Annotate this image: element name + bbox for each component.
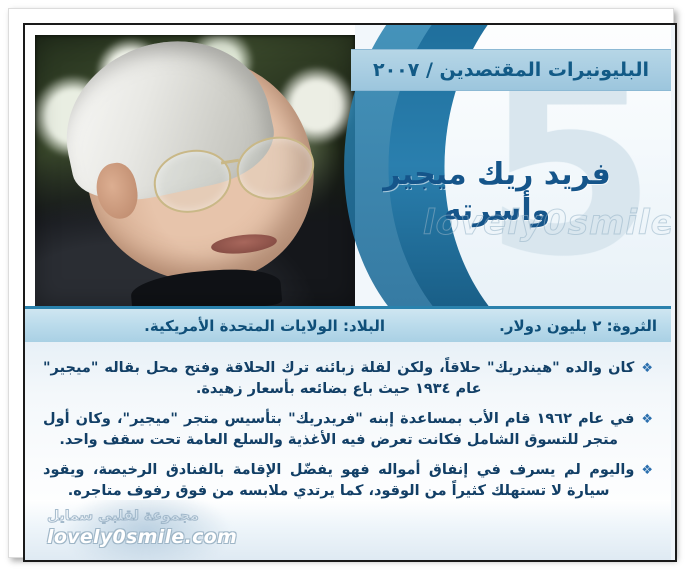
- infographic-page: 5 البليونيرات المقتصدين / ٢٠٠٧ فريد ريك …: [0, 0, 692, 579]
- header-bar: البليونيرات المقتصدين / ٢٠٠٧: [351, 49, 671, 91]
- subject-title-block: فريد ريك ميجير وأسرته: [347, 157, 647, 229]
- diamond-bullet-icon: ❖: [641, 359, 653, 379]
- outer-frame: 5 البليونيرات المقتصدين / ٢٠٠٧ فريد ريك …: [8, 8, 674, 558]
- wealth-value: الثروة: ٢ بليون دولار.: [499, 317, 657, 335]
- diamond-bullet-icon: ❖: [641, 461, 653, 481]
- inner-frame: 5 البليونيرات المقتصدين / ٢٠٠٧ فريد ريك …: [23, 23, 677, 562]
- diamond-bullet-icon: ❖: [641, 410, 653, 430]
- footer-arabic-credit: مجموعة لقلبي سمايل: [47, 508, 199, 524]
- header-title: البليونيرات المقتصدين / ٢٠٠٧: [373, 59, 649, 81]
- list-item: ❖ كان والده "هيندريك" حلاقاً، ولكن لقلة …: [43, 358, 653, 400]
- body-bullets: ❖ كان والده "هيندريك" حلاقاً، ولكن لقلة …: [25, 342, 671, 522]
- info-bar: الثروة: ٢ بليون دولار. البلاد: الولايات …: [25, 306, 671, 342]
- top-zone: 5 البليونيرات المقتصدين / ٢٠٠٧ فريد ريك …: [25, 25, 671, 306]
- list-item: ❖ واليوم لم يسرف في إنفاق أمواله فهو يفض…: [43, 460, 653, 502]
- list-item: ❖ في عام ١٩٦٢ قام الأب بمساعدة إبنه "فري…: [43, 409, 653, 451]
- footer-site-url: lovely0smile.com: [47, 526, 237, 548]
- bullet-text-3: واليوم لم يسرف في إنفاق أمواله فهو يفضّل…: [43, 460, 634, 502]
- subject-title-line-1: فريد ريك ميجير: [347, 157, 647, 193]
- country-value: البلاد: الولايات المتحدة الأمريكية.: [144, 317, 385, 335]
- bullet-text-2: في عام ١٩٦٢ قام الأب بمساعدة إبنه "فريدر…: [43, 409, 634, 451]
- bullet-text-1: كان والده "هيندريك" حلاقاً، ولكن لقلة زب…: [43, 358, 634, 400]
- footer: مجموعة لقلبي سمايل lovely0smile.com: [25, 500, 671, 560]
- subject-title-line-2: وأسرته: [347, 193, 647, 229]
